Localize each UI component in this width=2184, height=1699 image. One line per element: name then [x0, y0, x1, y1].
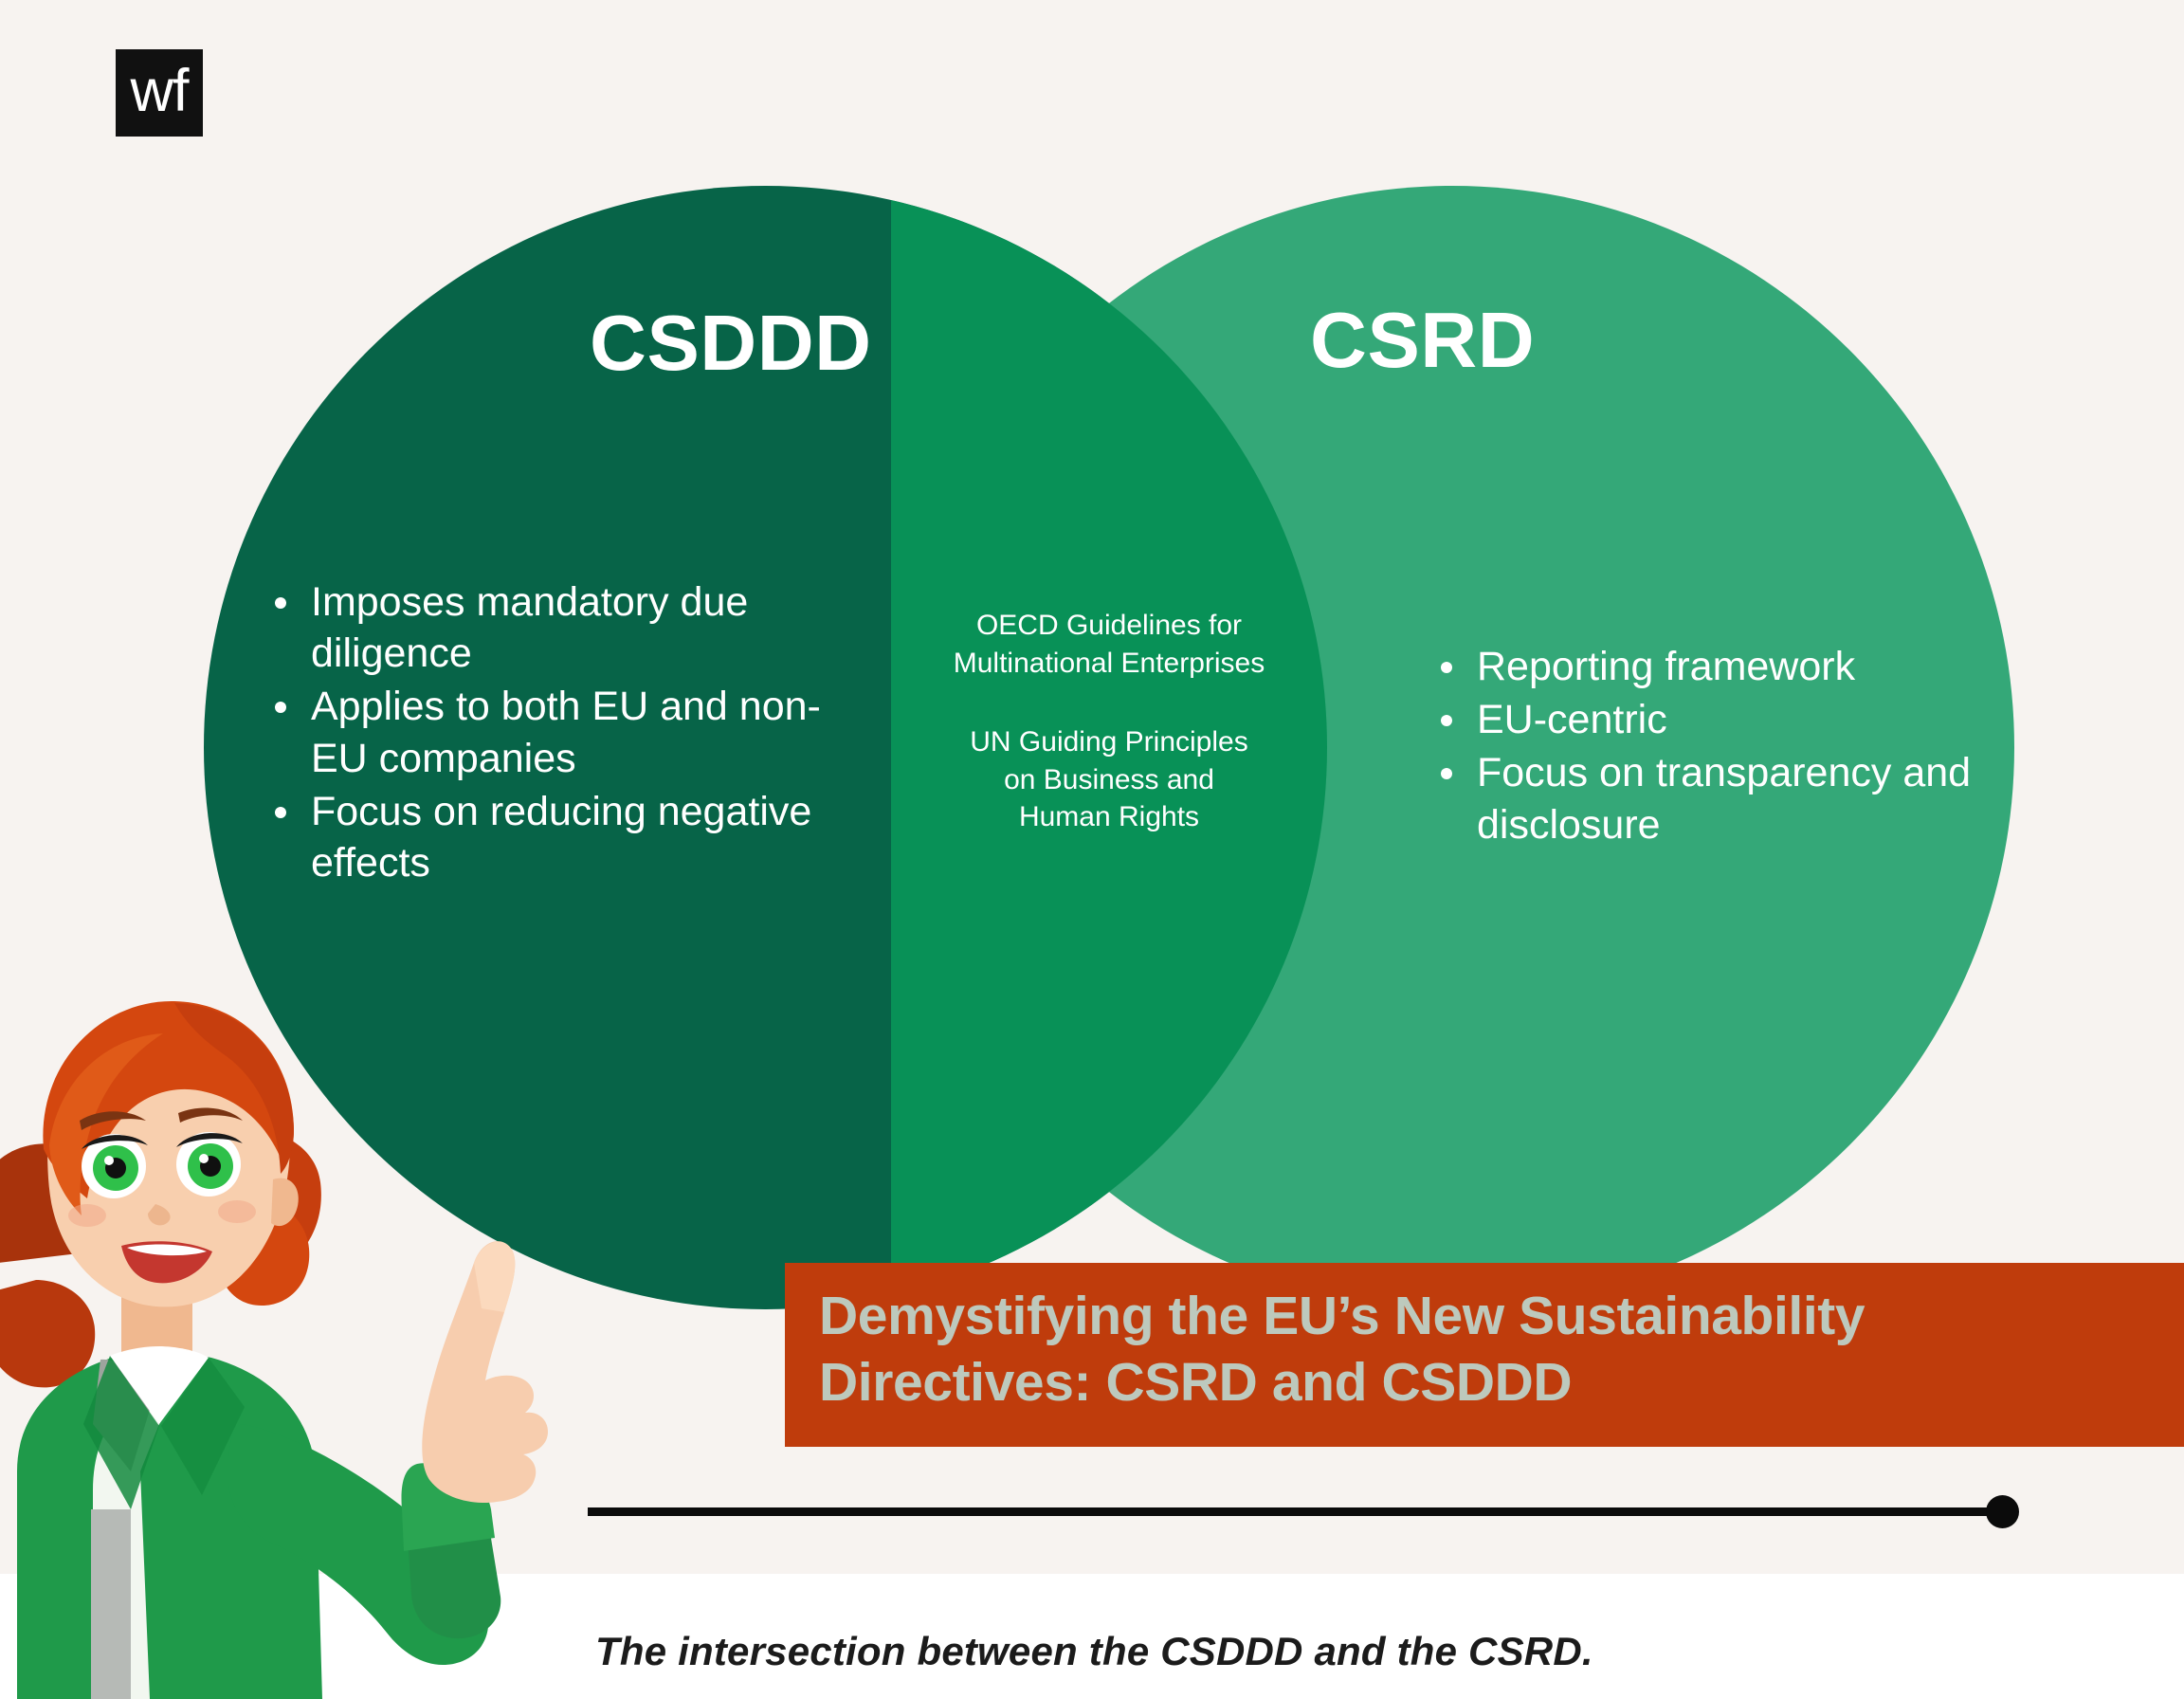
csddd-bullet-list: Imposes mandatory due diligence Applies … — [265, 576, 853, 890]
figure-caption: The intersection between the CSDDD and t… — [595, 1629, 1593, 1674]
progress-slider[interactable] — [588, 1504, 2010, 1515]
list-item: Imposes mandatory due diligence — [265, 576, 853, 679]
list-item: Applies to both EU and non-EU companies — [265, 681, 853, 783]
overlap-line-3: UN Guiding Principles — [905, 723, 1313, 761]
presenter-illustration — [0, 978, 595, 1699]
banner-line-2: Directives: CSRD and CSDDD — [819, 1350, 2184, 1416]
slider-track[interactable] — [588, 1507, 2002, 1516]
overlap-line-1: OECD Guidelines for — [905, 607, 1313, 645]
overlap-line-4: on Business and — [905, 761, 1313, 799]
slider-knob[interactable] — [1986, 1495, 2019, 1528]
title-banner: Demystifying the EU’s New Sustainability… — [785, 1263, 2184, 1447]
infographic-canvas: wf CSDDD CSRD Imposes mandatory due dili… — [0, 0, 2184, 1699]
venn-overlap-text: OECD Guidelines for Multinational Enterp… — [905, 607, 1313, 836]
csrd-bullet-list: Reporting framework EU-centric Focus on … — [1431, 641, 2038, 852]
venn-title-csddd: CSDDD — [590, 303, 872, 382]
list-item: Reporting framework — [1431, 641, 2038, 692]
banner-line-1: Demystifying the EU’s New Sustainability — [819, 1284, 2184, 1350]
overlap-spacer — [905, 682, 1313, 723]
venn-title-csrd: CSRD — [1310, 301, 1535, 379]
list-item: Focus on reducing negative effects — [265, 786, 853, 888]
overlap-line-5: Human Rights — [905, 798, 1313, 836]
list-item: Focus on transparency and disclosure — [1431, 747, 2038, 849]
overlap-line-2: Multinational Enterprises — [905, 645, 1313, 683]
list-item: EU-centric — [1431, 694, 2038, 745]
